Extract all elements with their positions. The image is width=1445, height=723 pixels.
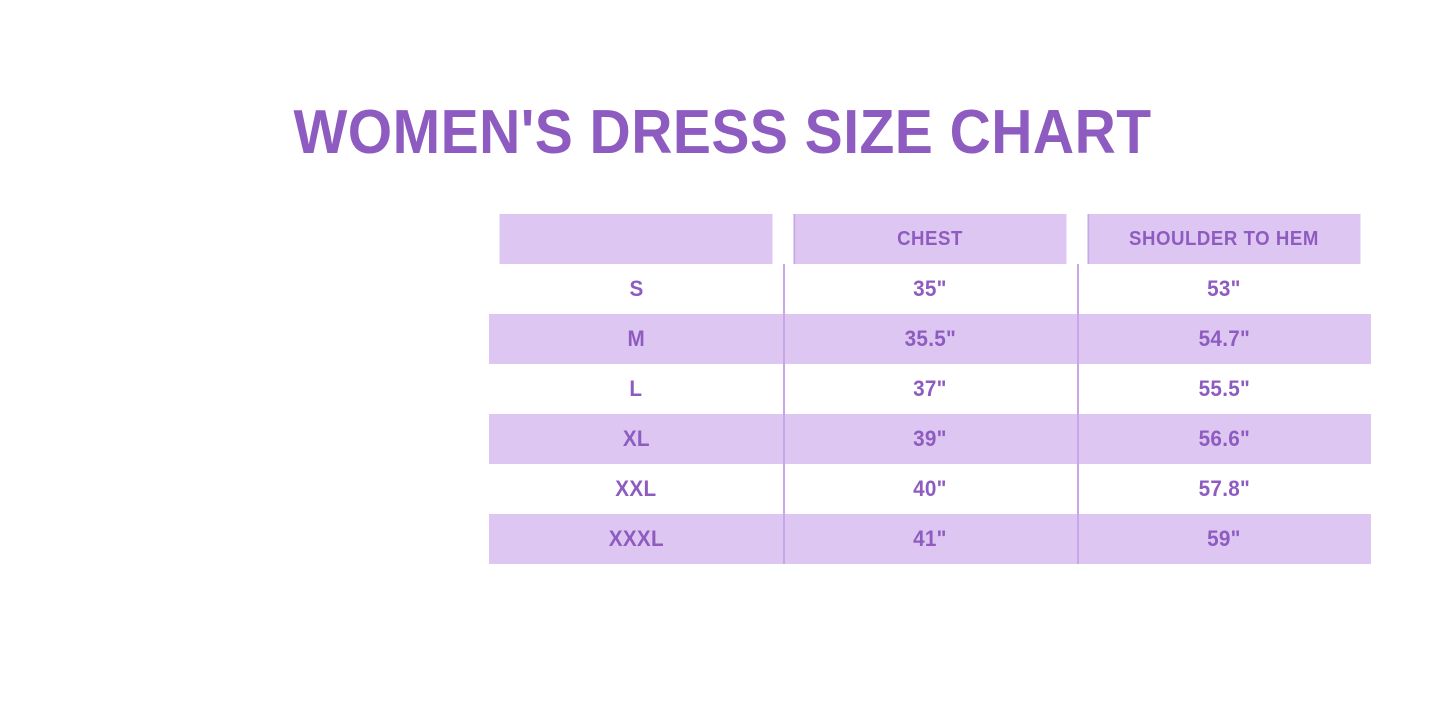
cell-chest: 41"	[783, 514, 1077, 564]
chest-value: 35"	[913, 276, 947, 302]
cell-chest: 40"	[783, 464, 1077, 514]
size-label: S	[629, 276, 643, 302]
cell-shoulder-to-hem: 59"	[1077, 514, 1371, 564]
shoulder-to-hem-value: 57.8"	[1198, 476, 1249, 502]
shoulder-to-hem-value: 56.6"	[1198, 426, 1249, 452]
size-label: XL	[623, 426, 650, 452]
table-row: XL 39" 56.6"	[489, 414, 1371, 464]
shoulder-to-hem-value: 59"	[1207, 526, 1241, 552]
table-row: S 35" 53"	[489, 264, 1371, 314]
cell-size: XXL	[489, 464, 783, 514]
column-header-shoulder-to-hem: SHOULDER TO HEM	[1087, 214, 1360, 264]
size-label: L	[630, 376, 643, 402]
table-header-row: CHEST SHOULDER TO HEM	[489, 214, 1371, 264]
size-chart-table: CHEST SHOULDER TO HEM S 35" 53" M 35.5" …	[489, 214, 1371, 564]
cell-size: XL	[489, 414, 783, 464]
table-row: XXL 40" 57.8"	[489, 464, 1371, 514]
column-header-chest: CHEST	[793, 214, 1066, 264]
cell-shoulder-to-hem: 53"	[1077, 264, 1371, 314]
shoulder-to-hem-value: 53"	[1207, 276, 1241, 302]
cell-chest: 35"	[783, 264, 1077, 314]
shoulder-to-hem-value: 55.5"	[1198, 376, 1249, 402]
cell-shoulder-to-hem: 57.8"	[1077, 464, 1371, 514]
size-label: XXL	[615, 476, 656, 502]
column-header-size	[499, 214, 772, 264]
cell-shoulder-to-hem: 54.7"	[1077, 314, 1371, 364]
size-chart-page: WOMEN'S DRESS SIZE CHART CHEST SHOULDER …	[0, 0, 1445, 723]
page-title: WOMEN'S DRESS SIZE CHART	[58, 99, 1387, 167]
table-header: CHEST SHOULDER TO HEM	[489, 214, 1371, 264]
chest-value: 39"	[913, 426, 947, 452]
cell-size: L	[489, 364, 783, 414]
size-chart-table-container: CHEST SHOULDER TO HEM S 35" 53" M 35.5" …	[489, 214, 1371, 564]
table-row: L 37" 55.5"	[489, 364, 1371, 414]
table-row: M 35.5" 54.7"	[489, 314, 1371, 364]
cell-size: S	[489, 264, 783, 314]
cell-chest: 39"	[783, 414, 1077, 464]
size-label: XXXL	[608, 526, 663, 552]
cell-chest: 35.5"	[783, 314, 1077, 364]
chest-value: 37"	[913, 376, 947, 402]
table-body: S 35" 53" M 35.5" 54.7" L 37" 55.5" XL 3…	[489, 264, 1371, 564]
cell-size: XXXL	[489, 514, 783, 564]
cell-shoulder-to-hem: 55.5"	[1077, 364, 1371, 414]
size-label: M	[627, 326, 645, 352]
chest-value: 40"	[913, 476, 947, 502]
shoulder-to-hem-value: 54.7"	[1198, 326, 1249, 352]
table-row: XXXL 41" 59"	[489, 514, 1371, 564]
cell-shoulder-to-hem: 56.6"	[1077, 414, 1371, 464]
cell-chest: 37"	[783, 364, 1077, 414]
chest-value: 41"	[913, 526, 947, 552]
cell-size: M	[489, 314, 783, 364]
chest-value: 35.5"	[904, 326, 955, 352]
